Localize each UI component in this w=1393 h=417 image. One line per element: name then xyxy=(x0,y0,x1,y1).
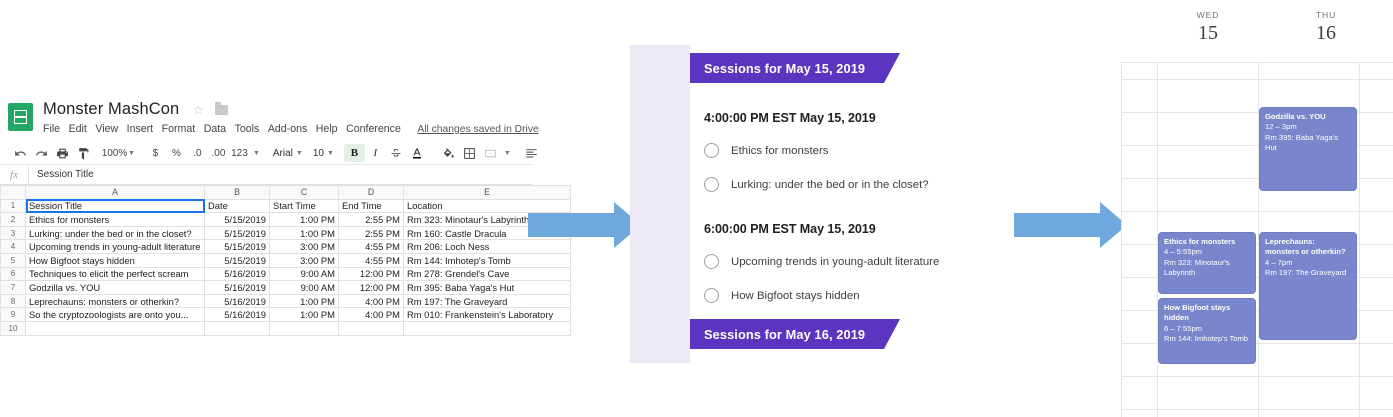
calendar-day-headers: WED 15 THU 16 xyxy=(1121,0,1393,62)
calendar-event[interactable]: Godzilla vs. YOU 12 – 3pm Rm 395: Baba Y… xyxy=(1259,107,1357,191)
event-time: 4 – 7pm xyxy=(1265,258,1351,268)
event-time: 6 – 7:55pm xyxy=(1164,324,1250,334)
menu-item-file[interactable]: File xyxy=(43,123,60,135)
table-row: 7 Godzilla vs. YOU 5/16/2019 9:00 AM 12:… xyxy=(1,281,571,295)
radio-option[interactable]: Upcoming trends in young-adult literatur… xyxy=(690,254,902,269)
radio-option-label: How Bigfoot stays hidden xyxy=(731,290,860,302)
table-row: 10 xyxy=(1,321,571,335)
fill-color-icon[interactable] xyxy=(438,144,459,162)
cell-title[interactable]: How Bigfoot stays hidden xyxy=(26,253,205,267)
bold-button[interactable]: B xyxy=(344,144,365,162)
day-of-week-label: WED xyxy=(1158,10,1258,20)
calendar-column-header-wed[interactable]: WED 15 xyxy=(1158,10,1258,47)
cell-end[interactable]: 12:00 PM xyxy=(339,281,404,295)
font-chevron-down-icon[interactable]: ▼ xyxy=(296,150,303,157)
cell-end[interactable]: 4:55 PM xyxy=(339,240,404,254)
cell-date[interactable]: 5/16/2019 xyxy=(205,308,270,322)
text-color-button[interactable] xyxy=(407,144,428,162)
cell-location[interactable]: Rm 197: The Graveyard xyxy=(404,294,571,308)
horizontal-align-icon[interactable] xyxy=(521,144,542,162)
row-number[interactable]: 1 xyxy=(1,199,26,213)
grid-hour-line xyxy=(1121,79,1393,80)
form-page-background xyxy=(630,45,690,363)
italic-button[interactable]: I xyxy=(365,144,386,162)
flow-arrow-1 xyxy=(528,202,641,248)
event-title: Ethics for monsters xyxy=(1164,237,1250,247)
day-number-label: 16 xyxy=(1276,20,1376,47)
column-header-a[interactable]: A xyxy=(26,186,205,200)
radio-button-icon[interactable] xyxy=(704,177,719,192)
radio-button-icon[interactable] xyxy=(704,288,719,303)
cell-date[interactable]: 5/16/2019 xyxy=(205,294,270,308)
formats-chevron-down-icon[interactable]: ▼ xyxy=(253,150,260,157)
cell-a1[interactable]: Session Title xyxy=(26,199,205,213)
merge-cells-icon[interactable] xyxy=(480,144,501,162)
time-slot-1: 4:00:00 PM EST May 15, 2019 Ethics for m… xyxy=(690,111,902,192)
form-card: Sessions for May 15, 2019 4:00:00 PM EST… xyxy=(690,45,902,363)
calendar-event[interactable]: Leprechauns: monsters or otherkin? 4 – 7… xyxy=(1259,232,1357,340)
zoom-chevron-down-icon[interactable]: ▼ xyxy=(128,150,135,157)
merge-chevron-down-icon[interactable]: ▼ xyxy=(504,150,511,157)
time-slot-2: 6:00:00 PM EST May 15, 2019 Upcoming tre… xyxy=(690,222,902,303)
cell-location[interactable]: Rm 395: Baba Yaga's Hut xyxy=(404,281,571,295)
cell-b1[interactable]: Date xyxy=(205,199,270,213)
cell-start[interactable]: 3:00 PM xyxy=(270,240,339,254)
cell-end[interactable]: 2:55 PM xyxy=(339,226,404,240)
table-row: 4 Upcoming trends in young-adult literat… xyxy=(1,240,571,254)
decrease-decimal-button[interactable]: .0 xyxy=(187,144,208,162)
currency-format-button[interactable]: $ xyxy=(145,144,166,162)
grid-hour-line xyxy=(1121,409,1393,410)
cell-title[interactable]: Lurking: under the bed or in the closet? xyxy=(26,226,205,240)
folder-icon[interactable] xyxy=(215,105,228,115)
font-size-select[interactable]: 10 xyxy=(313,148,324,159)
event-time: 4 – 5:55pm xyxy=(1164,247,1250,257)
menu-item-format[interactable]: Format xyxy=(162,123,196,135)
radio-option[interactable]: Lurking: under the bed or in the closet? xyxy=(690,177,902,192)
flow-arrow-2 xyxy=(1014,202,1127,248)
radio-button-icon[interactable] xyxy=(704,254,719,269)
cell-title[interactable]: Upcoming trends in young-adult literatur… xyxy=(26,240,205,254)
event-location: Rm 395: Baba Yaga's Hut xyxy=(1265,133,1351,154)
sheets-toolbar: 100% ▼ $ % .0 .00 123 ▼ Arial ▼ 10 ▼ B I xyxy=(0,142,532,164)
cell-start[interactable]: 9:00 AM xyxy=(270,281,339,295)
cell-end[interactable]: 2:55 PM xyxy=(339,213,404,227)
title-and-menu-block: Monster MashCon ☆ FileEditViewInsertForm… xyxy=(43,100,539,137)
cell-date[interactable]: 5/15/2019 xyxy=(205,240,270,254)
cell-empty[interactable] xyxy=(339,321,404,335)
cell-start[interactable]: 3:00 PM xyxy=(270,253,339,267)
corner-select-all[interactable] xyxy=(1,186,26,200)
menu-item-add-ons[interactable]: Add-ons xyxy=(268,123,307,135)
event-location: Rm 197: The Graveyard xyxy=(1265,268,1351,278)
radio-button-icon[interactable] xyxy=(704,143,719,158)
column-header-d[interactable]: D xyxy=(339,186,404,200)
more-formats-button[interactable]: 123 xyxy=(229,144,250,162)
print-icon[interactable] xyxy=(52,144,73,162)
cell-date[interactable]: 5/15/2019 xyxy=(205,213,270,227)
grid-day-divider xyxy=(1359,62,1360,417)
percent-format-button[interactable]: % xyxy=(166,144,187,162)
table-row: 9 So the cryptozoologists are onto you..… xyxy=(1,308,571,322)
cell-date[interactable]: 5/15/2019 xyxy=(205,226,270,240)
google-calendar-week-view: WED 15 THU 16 Godzilla vs. YOU 12 – 3pm … xyxy=(1121,0,1393,417)
row-number[interactable]: 10 xyxy=(1,321,26,335)
grid-day-divider xyxy=(1121,62,1122,417)
column-header-row: A B C D E xyxy=(1,186,571,200)
title-row: Monster MashCon ☆ xyxy=(43,100,539,119)
column-header-c[interactable]: C xyxy=(270,186,339,200)
event-title: Leprechauns: monsters or otherkin? xyxy=(1265,237,1351,258)
event-title: How Bigfoot stays hidden xyxy=(1164,303,1250,324)
slot-time-label: 6:00:00 PM EST May 15, 2019 xyxy=(690,222,902,236)
cell-d1[interactable]: End Time xyxy=(339,199,404,213)
day-number-label: 15 xyxy=(1158,20,1258,47)
calendar-column-header-thu[interactable]: THU 16 xyxy=(1276,10,1376,47)
cell-location[interactable]: Rm 144: Imhotep's Tomb xyxy=(404,253,571,267)
row-number[interactable]: 4 xyxy=(1,240,26,254)
cell-end[interactable]: 4:00 PM xyxy=(339,294,404,308)
menu-item-edit[interactable]: Edit xyxy=(69,123,87,135)
section-banner-may-15: Sessions for May 15, 2019 xyxy=(690,53,884,83)
zoom-level[interactable]: 100% xyxy=(104,144,125,162)
increase-decimal-button[interactable]: .00 xyxy=(208,144,229,162)
table-row: 2 Ethics for monsters 5/15/2019 1:00 PM … xyxy=(1,213,571,227)
cell-start[interactable]: 1:00 PM xyxy=(270,294,339,308)
cell-title[interactable]: Ethics for monsters xyxy=(26,213,205,227)
strikethrough-button[interactable] xyxy=(386,144,407,162)
cell-title[interactable]: Techniques to elicit the perfect scream xyxy=(26,267,205,281)
undo-icon[interactable] xyxy=(10,144,31,162)
table-row: 1 Session Title Date Start Time End Time… xyxy=(1,199,571,213)
radio-option[interactable]: Ethics for monsters xyxy=(690,143,902,158)
cell-end[interactable]: 4:55 PM xyxy=(339,253,404,267)
section-banner-may-16: Sessions for May 16, 2019 xyxy=(690,319,884,349)
cell-location[interactable]: Rm 010: Frankenstein's Laboratory xyxy=(404,308,571,322)
redo-icon[interactable] xyxy=(31,144,52,162)
google-sheets-window: Monster MashCon ☆ FileEditViewInsertForm… xyxy=(0,95,532,317)
cell-title[interactable]: So the cryptozoologists are onto you... xyxy=(26,308,205,322)
row-number[interactable]: 5 xyxy=(1,253,26,267)
cell-start[interactable]: 1:00 PM xyxy=(270,213,339,227)
event-location: Rm 144: Imhotep's Tomb xyxy=(1164,334,1250,344)
arrow-shaft xyxy=(1014,213,1100,237)
table-row: 6 Techniques to elicit the perfect screa… xyxy=(1,267,571,281)
cell-date[interactable]: 5/16/2019 xyxy=(205,281,270,295)
document-title[interactable]: Monster MashCon xyxy=(43,100,179,119)
formula-input[interactable]: Session Title xyxy=(28,165,532,184)
radio-option-label: Lurking: under the bed or in the closet? xyxy=(731,179,929,191)
column-header-b[interactable]: B xyxy=(205,186,270,200)
event-location: Rm 323: Minotaur's Labyrinth xyxy=(1164,258,1250,279)
cell-empty[interactable] xyxy=(270,321,339,335)
menu-item-tools[interactable]: Tools xyxy=(235,123,260,135)
cell-date[interactable]: 5/16/2019 xyxy=(205,267,270,281)
formula-bar: fx Session Title xyxy=(0,164,532,185)
spreadsheet-grid: A B C D E 1 Session Title Date Start Tim… xyxy=(0,185,571,336)
grid-hour-line xyxy=(1121,211,1393,212)
calendar-event[interactable]: Ethics for monsters 4 – 5:55pm Rm 323: M… xyxy=(1158,232,1256,294)
cell-empty[interactable] xyxy=(205,321,270,335)
row-number[interactable]: 6 xyxy=(1,267,26,281)
google-form-preview: Sessions for May 15, 2019 4:00:00 PM EST… xyxy=(630,45,902,363)
size-chevron-down-icon[interactable]: ▼ xyxy=(327,150,334,157)
menu-item-insert[interactable]: Insert xyxy=(127,123,154,135)
section-banner-label: Sessions for May 16, 2019 xyxy=(704,327,865,342)
radio-option-label: Ethics for monsters xyxy=(731,145,828,157)
table-row: 5 How Bigfoot stays hidden 5/15/2019 3:0… xyxy=(1,253,571,267)
radio-option[interactable]: How Bigfoot stays hidden xyxy=(690,288,902,303)
cell-empty[interactable] xyxy=(26,321,205,335)
cell-empty[interactable] xyxy=(404,321,571,335)
cell-start[interactable]: 1:00 PM xyxy=(270,308,339,322)
row-number[interactable]: 3 xyxy=(1,226,26,240)
cell-title[interactable]: Godzilla vs. YOU xyxy=(26,281,205,295)
menu-item-help[interactable]: Help xyxy=(316,123,338,135)
sheets-title-bar: Monster MashCon ☆ FileEditViewInsertForm… xyxy=(0,95,532,142)
fx-icon: fx xyxy=(0,169,28,181)
day-of-week-label: THU xyxy=(1276,10,1376,20)
menu-item-conference[interactable]: Conference xyxy=(346,123,401,135)
menu-bar: FileEditViewInsertFormatDataToolsAdd-ons… xyxy=(43,122,539,137)
arrow-shaft xyxy=(528,213,614,237)
cell-c1[interactable]: Start Time xyxy=(270,199,339,213)
grid-hour-line xyxy=(1121,376,1393,377)
row-number[interactable]: 9 xyxy=(1,308,26,322)
cell-start[interactable]: 9:00 AM xyxy=(270,267,339,281)
table-row: 3 Lurking: under the bed or in the close… xyxy=(1,226,571,240)
calendar-event[interactable]: How Bigfoot stays hidden 6 – 7:55pm Rm 1… xyxy=(1158,298,1256,364)
save-status-link[interactable]: All changes saved in Drive xyxy=(417,124,538,135)
cell-end[interactable]: 12:00 PM xyxy=(339,267,404,281)
slot-time-label: 4:00:00 PM EST May 15, 2019 xyxy=(690,111,902,125)
radio-option-label: Upcoming trends in young-adult literatur… xyxy=(731,256,939,268)
event-time: 12 – 3pm xyxy=(1265,122,1351,132)
cell-title[interactable]: Leprechauns: monsters or otherkin? xyxy=(26,294,205,308)
column-header-e[interactable]: E xyxy=(404,186,571,200)
star-icon[interactable]: ☆ xyxy=(193,103,204,117)
row-number[interactable]: 8 xyxy=(1,294,26,308)
menu-item-data[interactable]: Data xyxy=(204,123,226,135)
row-number[interactable]: 2 xyxy=(1,213,26,227)
menu-item-view[interactable]: View xyxy=(95,123,118,135)
cell-start[interactable]: 1:00 PM xyxy=(270,226,339,240)
calendar-time-grid[interactable]: Godzilla vs. YOU 12 – 3pm Rm 395: Baba Y… xyxy=(1121,62,1393,417)
sheets-logo-icon xyxy=(8,103,33,131)
section-banner-label: Sessions for May 15, 2019 xyxy=(704,61,865,76)
borders-icon[interactable] xyxy=(459,144,480,162)
table-row: 8 Leprechauns: monsters or otherkin? 5/1… xyxy=(1,294,571,308)
cell-location[interactable]: Rm 278: Grendel's Cave xyxy=(404,267,571,281)
row-number[interactable]: 7 xyxy=(1,281,26,295)
paint-format-icon[interactable] xyxy=(73,144,94,162)
cell-date[interactable]: 5/15/2019 xyxy=(205,253,270,267)
font-family-select[interactable]: Arial xyxy=(270,148,293,159)
grid-hour-line xyxy=(1121,62,1393,63)
cell-end[interactable]: 4:00 PM xyxy=(339,308,404,322)
event-title: Godzilla vs. YOU xyxy=(1265,112,1351,122)
